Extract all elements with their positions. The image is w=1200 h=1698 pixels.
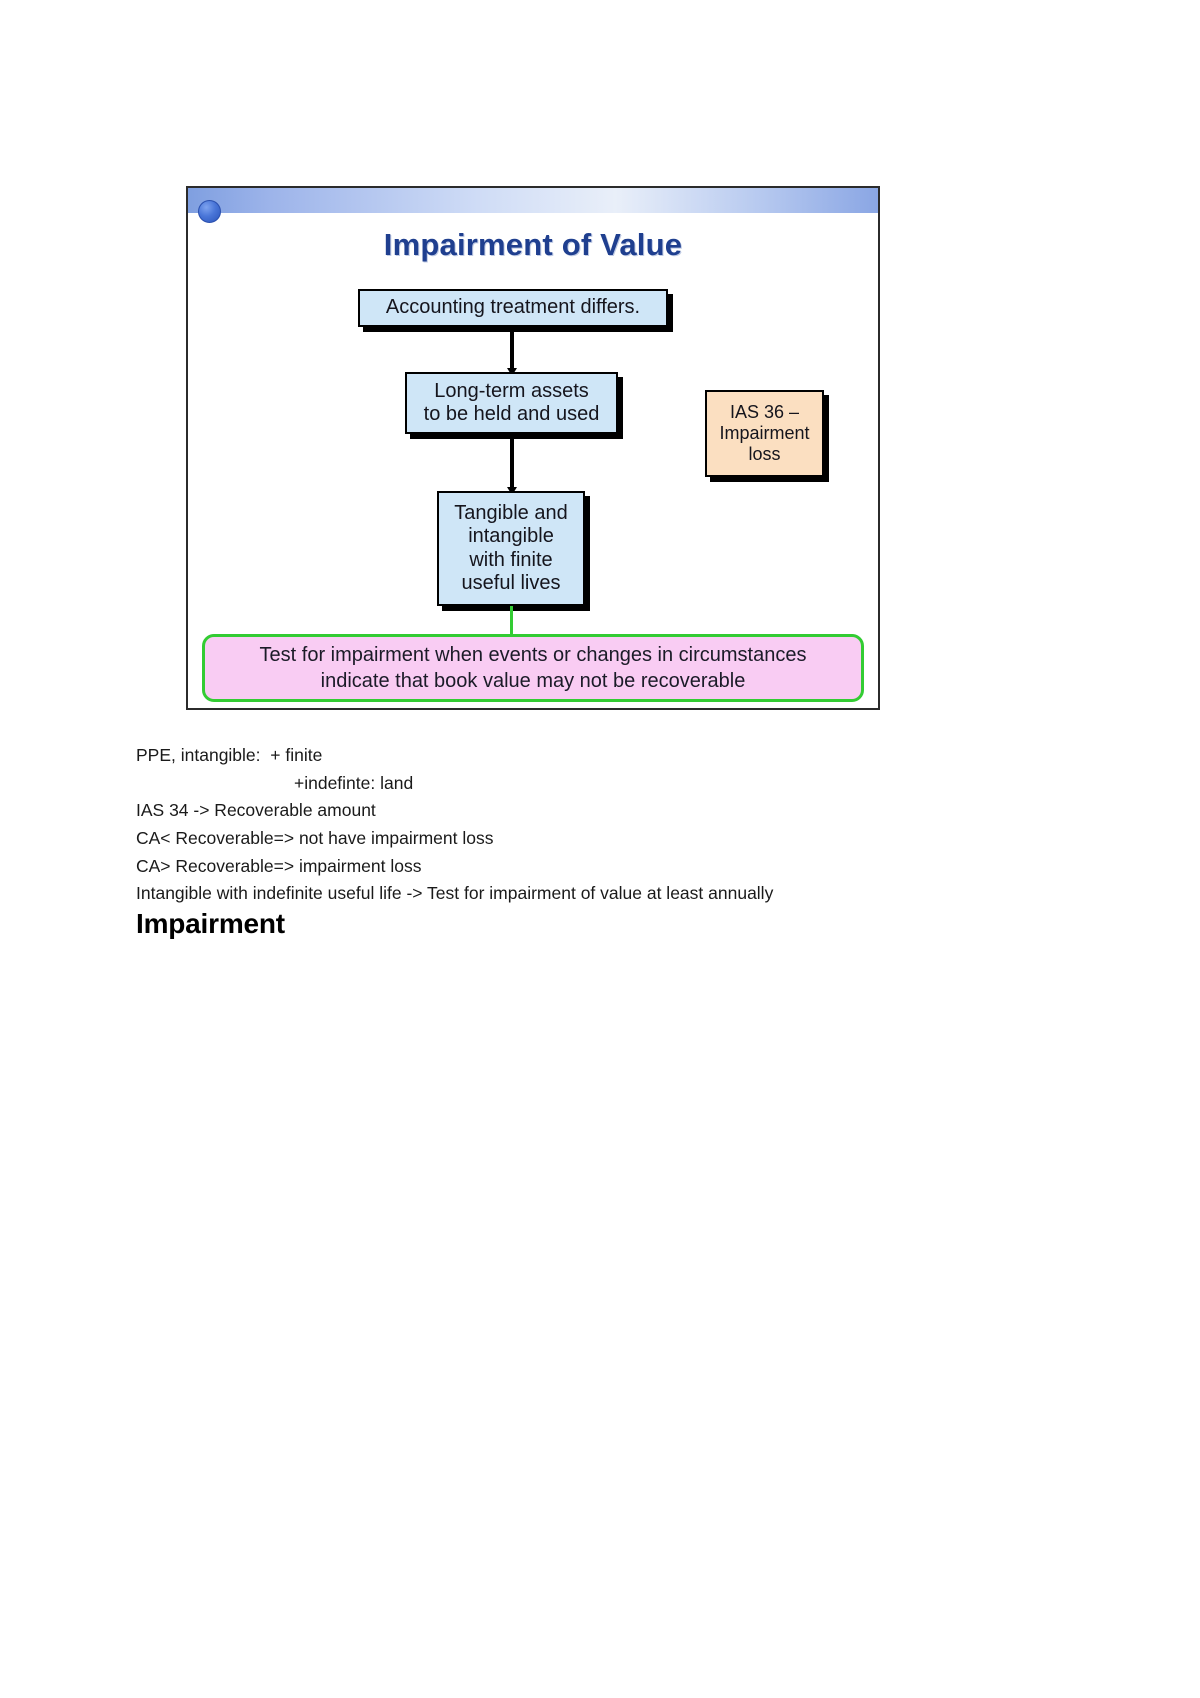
- flow-box-long-term-line1: Long-term assets: [418, 380, 606, 403]
- connector-accounting-to-longterm: [510, 327, 514, 374]
- flow-box-accounting-label: Accounting treatment differs.: [380, 296, 646, 319]
- flow-box-ias-line2: Impairment: [713, 423, 815, 444]
- callout-line2: indicate that book value may not be reco…: [321, 668, 746, 694]
- presentation-slide: Impairment of Value Accounting treatment…: [186, 186, 880, 710]
- page-heading-impairment: Impairment: [136, 908, 285, 940]
- note-line-6: Intangible with indefinite useful life -…: [136, 880, 1066, 908]
- note-line-3: IAS 34 -> Recoverable amount: [136, 797, 1066, 825]
- flow-box-tangible-line3: with finite: [448, 549, 573, 572]
- note-line-4: CA< Recoverable=> not have impairment lo…: [136, 825, 1066, 853]
- flow-box-tangible-line1: Tangible and: [448, 502, 573, 525]
- slide-top-banner: [188, 188, 878, 214]
- flow-box-tangible-intangible: Tangible and intangible with finite usef…: [437, 491, 585, 606]
- blue-circle-bullet-icon: [198, 200, 221, 223]
- slide-title: Impairment of Value: [188, 227, 878, 263]
- flow-box-accounting-treatment: Accounting treatment differs.: [358, 289, 668, 327]
- note-line-5: CA> Recoverable=> impairment loss: [136, 853, 1066, 881]
- connector-longterm-to-tangible: [510, 434, 514, 493]
- flow-box-long-term-line2: to be held and used: [418, 403, 606, 426]
- flow-box-tangible-line2: intangible: [448, 525, 573, 548]
- flow-box-ias-line3: loss: [713, 444, 815, 465]
- flow-box-ias-line1: IAS 36 –: [713, 402, 815, 423]
- note-line-1: PPE, intangible: + finite: [136, 742, 1066, 770]
- flow-box-long-term-assets: Long-term assets to be held and used: [405, 372, 618, 434]
- connector-tangible-to-callout: [510, 606, 513, 636]
- notes-block: PPE, intangible: + finite +indefinte: la…: [136, 742, 1066, 908]
- flow-box-tangible-line4: useful lives: [448, 572, 573, 595]
- note-line-2: +indefinte: land: [136, 770, 1066, 798]
- flow-box-ias-36: IAS 36 – Impairment loss: [705, 390, 824, 477]
- callout-impairment-test: Test for impairment when events or chang…: [202, 634, 864, 702]
- callout-line1: Test for impairment when events or chang…: [260, 642, 807, 668]
